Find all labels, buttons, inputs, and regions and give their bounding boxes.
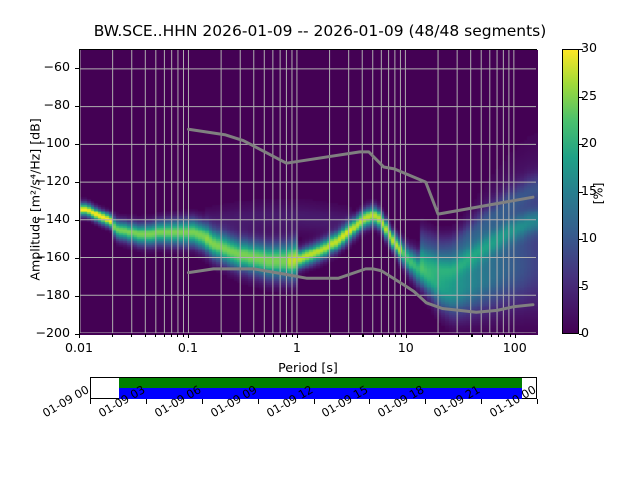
x-axis-tick-label: 1: [262, 340, 332, 355]
y-axis-tick-label: −80: [0, 97, 70, 112]
x-axis-minor-tick-mark: [504, 334, 505, 337]
x-axis-minor-tick-mark: [458, 334, 459, 337]
coverage-tick-mark: [314, 399, 315, 404]
y-axis-tick-label: −200: [0, 325, 70, 340]
colorbar: [562, 49, 579, 334]
x-axis-label: Period [s]: [79, 360, 537, 375]
x-axis-minor-tick-mark: [510, 334, 511, 337]
x-axis-minor-tick-mark: [482, 334, 483, 337]
x-axis-minor-tick-mark: [292, 334, 293, 337]
x-axis-minor-tick-mark: [131, 334, 132, 337]
coverage-tick-mark: [425, 399, 426, 404]
coverage-tick-mark: [369, 399, 370, 404]
x-axis-minor-tick-mark: [515, 334, 516, 337]
coverage-tick-mark: [258, 399, 259, 404]
coverage-tick-mark: [90, 399, 91, 404]
colorbar-label: [%]: [591, 104, 606, 284]
colorbar-tick-label: 5: [581, 278, 589, 293]
x-axis-minor-tick-mark: [280, 334, 281, 337]
y-axis-tick-label: −60: [0, 59, 70, 74]
x-axis-minor-tick-mark: [79, 334, 80, 337]
x-axis-minor-tick-mark: [401, 334, 402, 337]
x-axis-minor-tick-mark: [491, 334, 492, 337]
x-axis-minor-tick-mark: [254, 334, 255, 337]
ppsd-figure: BW.SCE..HHN 2026-01-09 -- 2026-01-09 (48…: [0, 0, 640, 480]
ppsd-axes: [79, 49, 537, 334]
x-axis-minor-tick-mark: [112, 334, 113, 337]
x-axis-minor-tick-mark: [145, 334, 146, 337]
coverage-tick-mark: [146, 399, 147, 404]
y-axis-tick-label: −140: [0, 211, 70, 226]
y-axis-tick-label: −160: [0, 249, 70, 264]
colorbar-tick-label: 25: [581, 88, 597, 103]
x-axis-minor-tick-mark: [164, 334, 165, 337]
y-axis-tick-mark: [75, 296, 79, 297]
colorbar-tick-mark: [579, 49, 583, 50]
x-axis-tick-label: 0.01: [44, 340, 114, 355]
x-axis-minor-tick-mark: [382, 334, 383, 337]
colorbar-tick-mark: [579, 144, 583, 145]
colorbar-tick-mark: [579, 97, 583, 98]
y-axis-tick-mark: [75, 68, 79, 69]
x-axis-minor-tick-mark: [221, 334, 222, 337]
coverage-tick-label: 01-09 00: [40, 382, 91, 420]
x-axis-tick-label: 10: [371, 340, 441, 355]
x-axis-minor-tick-mark: [188, 334, 189, 337]
colorbar-tick-label: 0: [581, 325, 589, 340]
colorbar-tick-mark: [579, 287, 583, 288]
colorbar-tick-mark: [579, 239, 583, 240]
x-axis-minor-tick-mark: [373, 334, 374, 337]
x-axis-minor-tick-mark: [498, 334, 499, 337]
y-axis-tick-mark: [75, 182, 79, 183]
x-axis-minor-tick-mark: [439, 334, 440, 337]
coverage-segment-green: [119, 378, 522, 388]
colorbar-tick-label: 30: [581, 40, 597, 55]
x-axis-minor-tick-mark: [330, 334, 331, 337]
x-axis-minor-tick-mark: [177, 334, 178, 337]
coverage-tick-mark: [202, 399, 203, 404]
coverage-tick-mark: [481, 399, 482, 404]
x-axis-minor-tick-mark: [240, 334, 241, 337]
x-axis-minor-tick-mark: [171, 334, 172, 337]
x-axis-minor-tick-mark: [389, 334, 390, 337]
x-axis-minor-tick-mark: [273, 334, 274, 337]
x-axis-minor-tick-mark: [349, 334, 350, 337]
x-axis-minor-tick-mark: [264, 334, 265, 337]
x-axis-minor-tick-mark: [406, 334, 407, 337]
x-axis-minor-tick-mark: [297, 334, 298, 337]
y-axis-tick-mark: [75, 258, 79, 259]
y-axis-tick-label: −180: [0, 287, 70, 302]
x-axis-tick-label: 0.1: [153, 340, 223, 355]
y-axis-tick-mark: [75, 144, 79, 145]
y-axis-tick-mark: [75, 220, 79, 221]
y-axis-tick-label: −120: [0, 173, 70, 188]
x-axis-tick-label: 100: [480, 340, 550, 355]
x-axis-minor-tick-mark: [471, 334, 472, 337]
y-axis-tick-label: −100: [0, 135, 70, 150]
x-axis-minor-tick-mark: [183, 334, 184, 337]
x-axis-minor-tick-mark: [155, 334, 156, 337]
x-axis-minor-tick-mark: [362, 334, 363, 337]
y-axis-tick-mark: [75, 106, 79, 107]
x-axis-minor-tick-mark: [286, 334, 287, 337]
coverage-tick-mark: [537, 399, 538, 404]
x-axis-minor-tick-mark: [395, 334, 396, 337]
colorbar-tick-mark: [579, 192, 583, 193]
colorbar-tick-mark: [579, 334, 583, 335]
ppsd-heatmap: [80, 50, 538, 335]
figure-title: BW.SCE..HHN 2026-01-09 -- 2026-01-09 (48…: [0, 22, 640, 40]
